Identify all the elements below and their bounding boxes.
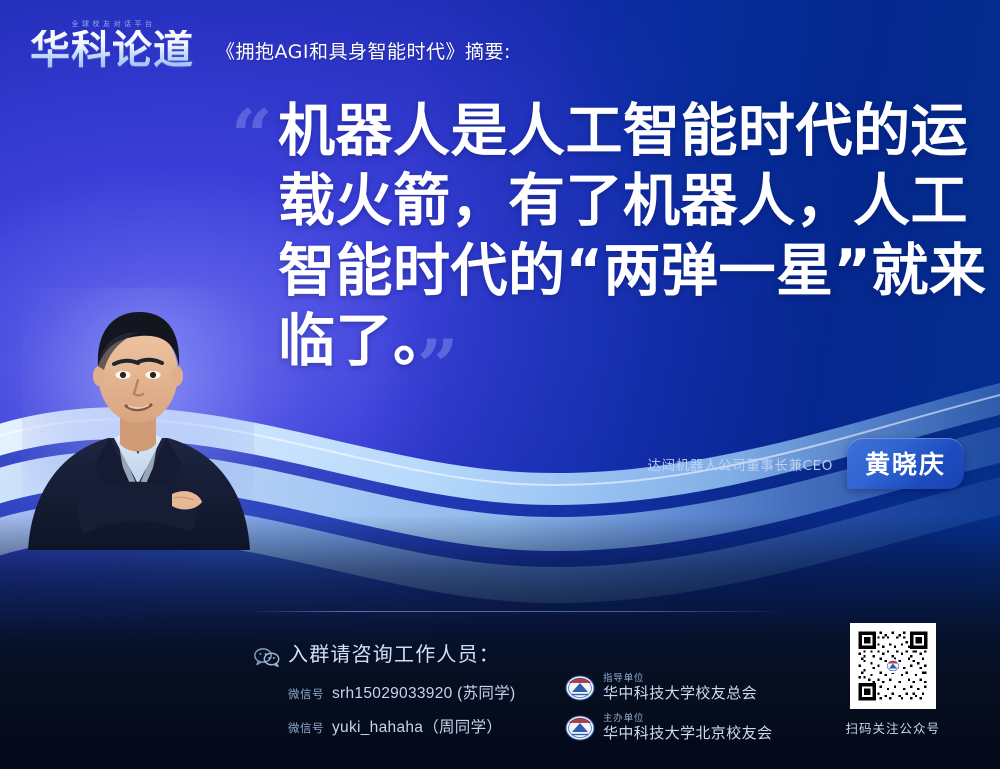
organization-row: 指导单位 华中科技大学校友总会	[565, 673, 757, 703]
contact-label: 微信号	[288, 720, 324, 736]
organization-kind: 主办单位	[603, 714, 772, 724]
quote-close-mark: ”	[417, 330, 458, 402]
page-title: 《拥抱AGI和具身智能时代》摘要:	[216, 37, 511, 64]
quote-line: 载火箭，有了机器人，人工	[278, 166, 954, 236]
quote-text: 机器人是人工智能时代的运 载火箭，有了机器人，人工 智能时代的“两弹一星”就来 …	[278, 96, 954, 376]
attribution: 达闼机器人公司董事长兼CEO 黄晓庆	[648, 438, 965, 489]
join-group-title: 入群请咨询工作人员：	[288, 638, 500, 667]
poster-canvas: 全球校友对话平台 华科论道 《拥抱AGI和具身智能时代》摘要: “ 机器人是人工…	[0, 0, 1000, 769]
speaker-name-badge: 黄晓庆	[847, 438, 964, 489]
quote-line: 机器人是人工智能时代的运	[278, 96, 954, 166]
speaker-role: 达闼机器人公司董事长兼CEO	[648, 454, 833, 474]
university-seal-icon	[565, 713, 595, 743]
contact-row: 微信号 srh15029033920 (苏同学)	[288, 681, 516, 703]
poster-header: 全球校友对话平台 华科论道 《拥抱AGI和具身智能时代》摘要:	[0, 0, 1000, 88]
quote-open-mark: “	[231, 100, 272, 172]
qr-caption: 扫码关注公众号	[845, 718, 940, 737]
contact-value[interactable]: yuki_hahaha（周同学）	[332, 715, 502, 737]
wechat-icon	[254, 647, 280, 667]
footer-divider	[255, 611, 783, 612]
logo-tagline: 全球校友对话平台	[69, 19, 156, 29]
contact-label: 微信号	[288, 686, 324, 702]
organization-row: 主办单位 华中科技大学北京校友会	[565, 713, 772, 743]
qr-section: 扫码关注公众号	[845, 623, 940, 737]
quote-line: 智能时代的“两弹一星”就来	[278, 236, 954, 306]
speaker-portrait	[22, 288, 254, 550]
university-seal-icon	[565, 673, 595, 703]
poster-footer: 入群请咨询工作人员： 微信号 srh15029033920 (苏同学) 微信号 …	[0, 609, 1000, 769]
quote-line: 临了。	[278, 306, 954, 376]
qr-code[interactable]	[850, 623, 936, 709]
organization-name: 华中科技大学北京校友会	[603, 726, 772, 742]
logo-text: 华科论道	[28, 30, 196, 70]
brand-logo[interactable]: 全球校友对话平台 华科论道	[28, 19, 196, 70]
organization-name: 华中科技大学校友总会	[603, 686, 757, 702]
organization-kind: 指导单位	[603, 674, 757, 684]
contact-value[interactable]: srh15029033920 (苏同学)	[332, 681, 516, 703]
contact-row: 微信号 yuki_hahaha（周同学）	[288, 715, 502, 737]
